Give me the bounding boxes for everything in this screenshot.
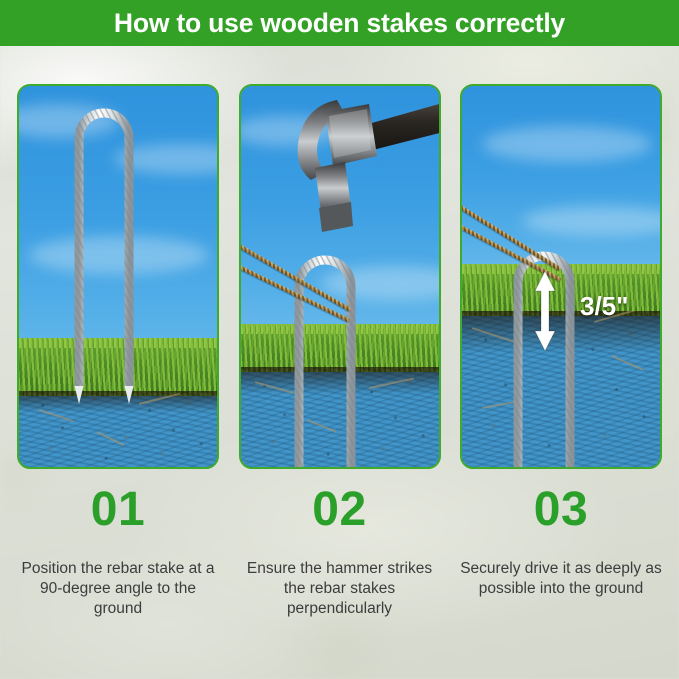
step-caption-01: Position the rebar stake at a 90-degree … bbox=[17, 559, 219, 618]
rebar-stake-left bbox=[19, 86, 219, 469]
step-number-03: 03 bbox=[534, 486, 588, 534]
step-01: 01 Position the rebar stake at a 90-degr… bbox=[17, 486, 219, 656]
panels-row: 3/5" bbox=[17, 84, 662, 469]
step-caption-03: Securely drive it as deeply as possible … bbox=[460, 559, 662, 599]
panel-02 bbox=[239, 84, 441, 469]
step-02: 02 Ensure the hammer strikes the rebar s… bbox=[239, 486, 441, 656]
page-title: How to use wooden stakes correctly bbox=[114, 8, 565, 39]
header-banner: How to use wooden stakes correctly bbox=[0, 0, 679, 46]
measurement-arrow-icon bbox=[530, 271, 560, 351]
measurement-label: 3/5" bbox=[580, 291, 628, 322]
infographic-root: How to use wooden stakes correctly bbox=[0, 0, 679, 679]
panel-01 bbox=[17, 84, 219, 469]
panel-03: 3/5" bbox=[460, 84, 662, 469]
step-03: 03 Securely drive it as deeply as possib… bbox=[460, 486, 662, 656]
step-number-02: 02 bbox=[312, 486, 366, 534]
steps-row: 01 Position the rebar stake at a 90-degr… bbox=[17, 486, 662, 656]
step-number-01: 01 bbox=[91, 486, 145, 534]
rebar-stake-deep bbox=[462, 86, 662, 469]
hammer-icon bbox=[241, 86, 441, 286]
step-caption-02: Ensure the hammer strikes the rebar stak… bbox=[239, 559, 441, 618]
